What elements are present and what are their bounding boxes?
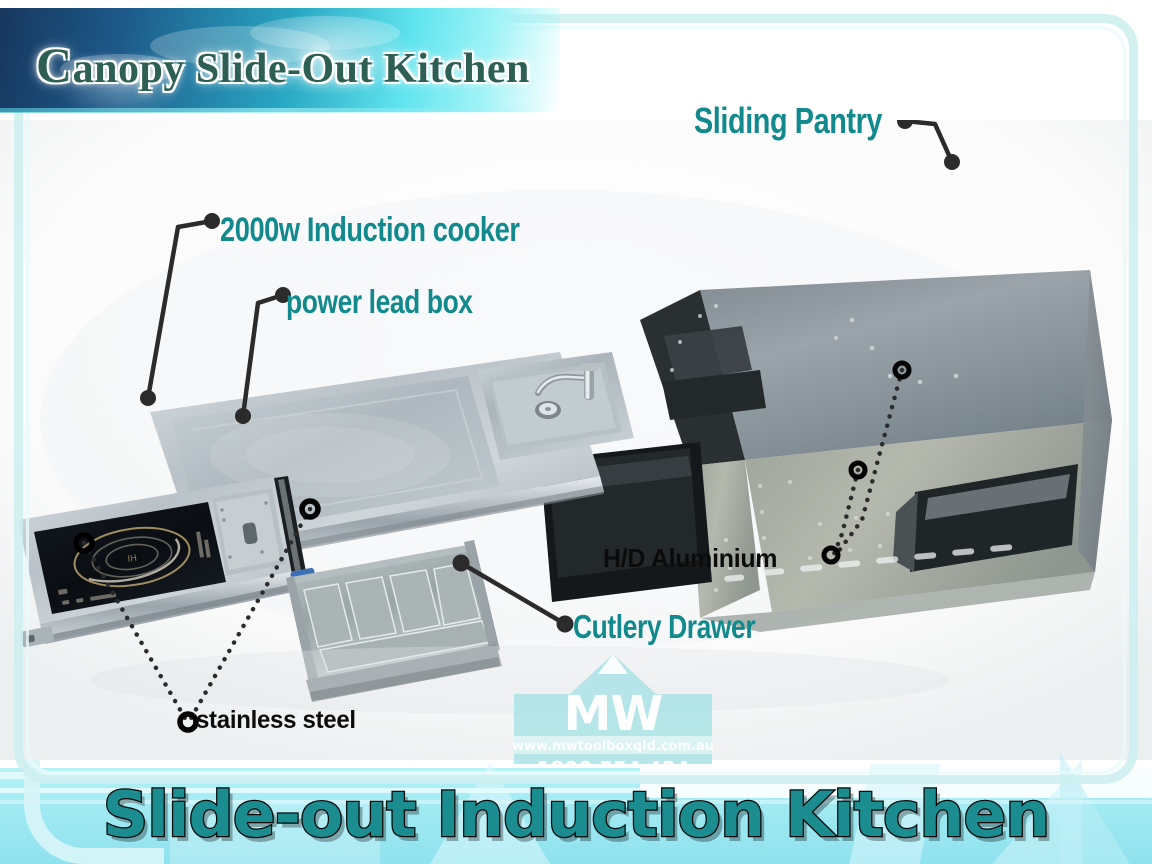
watermark-website: www.mwtoolboxqld.com.au: [512, 739, 714, 754]
callout-label-sliding-pantry: Sliding Pantry: [694, 100, 882, 142]
dot-cutlery-label: [557, 616, 574, 633]
watermark-monogram: MW: [564, 686, 663, 742]
dot-induction-target: [140, 390, 156, 406]
footer-headline: Slide-out Induction Kitchen: [0, 778, 1152, 851]
dot-power-lead-target: [235, 408, 251, 424]
page-title-rest: anopy Slide-Out Kitchen: [73, 46, 530, 92]
dot-induction-label: [204, 213, 220, 229]
callout-label-hd-aluminium: H/D Aluminium: [603, 543, 777, 574]
callout-label-cutlery-drawer: Cutlery Drawer: [573, 608, 755, 646]
svg-text:IH: IH: [127, 554, 138, 565]
banner-underline: [0, 108, 556, 113]
callout-label-induction-cooker: 2000w Induction cooker: [220, 211, 520, 250]
page-title-dropcap: C: [36, 37, 73, 93]
callout-label-stainless-steel: stainless steel: [196, 706, 356, 735]
poster-canvas: IH: [0, 0, 1152, 864]
dot-sliding-pantry-target: [944, 154, 960, 170]
page-title: Canopy Slide-Out Kitchen: [36, 36, 530, 94]
dot-cutlery-target: [453, 555, 470, 572]
callout-label-power-lead-box: power lead box: [286, 283, 473, 321]
